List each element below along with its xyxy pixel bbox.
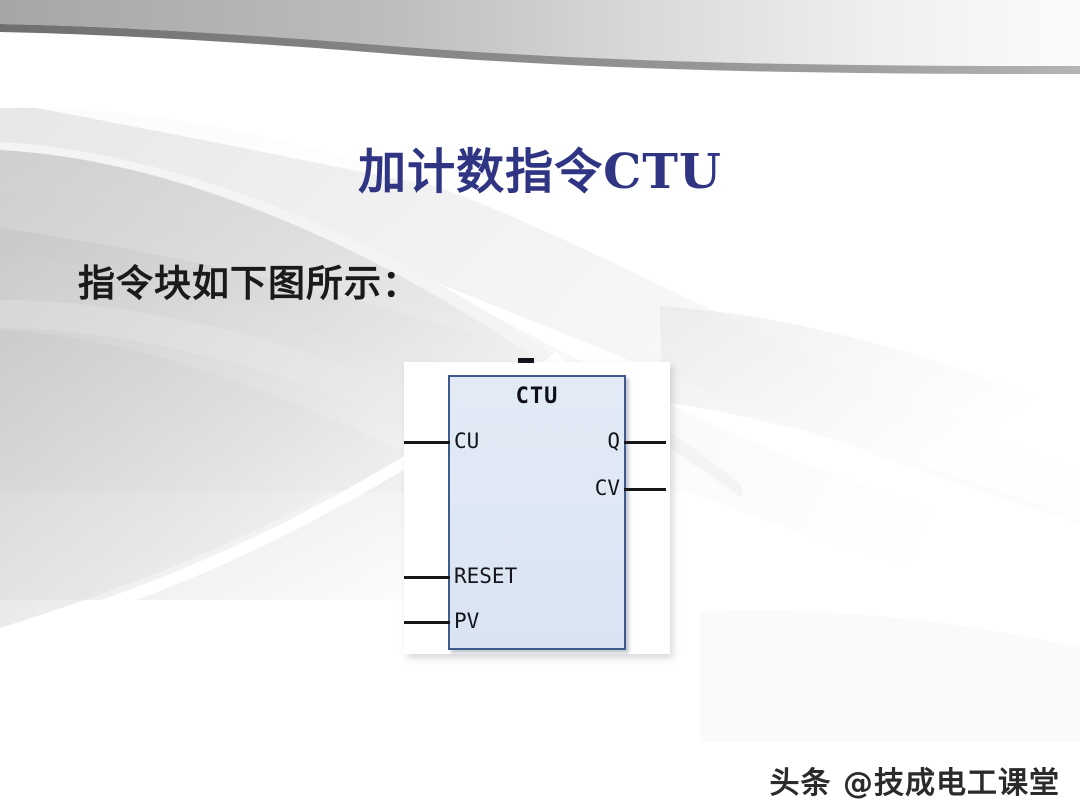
pin-label-cv: CV — [544, 476, 620, 500]
wire-output-cv — [624, 488, 666, 491]
wire-output-q — [624, 441, 666, 444]
haze-bottom-right — [700, 611, 1080, 742]
watermark-text: 头条 @技成电工课堂 — [770, 758, 1060, 802]
pin-label-cu: CU — [454, 429, 479, 453]
wire-input-pv — [404, 621, 450, 624]
page-title: 加计数指令CTU — [0, 132, 1080, 202]
slide-canvas: 加计数指令CTU 指令块如下图所示： CTU CU RESET PV Q CV … — [0, 0, 1080, 810]
subtitle-text: 指令块如下图所示： — [78, 253, 420, 307]
ctu-function-block-diagram: CTU CU RESET PV Q CV — [380, 348, 690, 668]
wire-input-reset — [404, 576, 450, 579]
pin-label-pv: PV — [454, 609, 479, 633]
wire-input-cu — [404, 441, 450, 444]
ctu-block-name: CTU — [448, 384, 626, 409]
pin-label-reset: RESET — [454, 564, 517, 588]
block-top-marker-icon — [518, 358, 534, 363]
pin-label-q: Q — [556, 429, 620, 453]
